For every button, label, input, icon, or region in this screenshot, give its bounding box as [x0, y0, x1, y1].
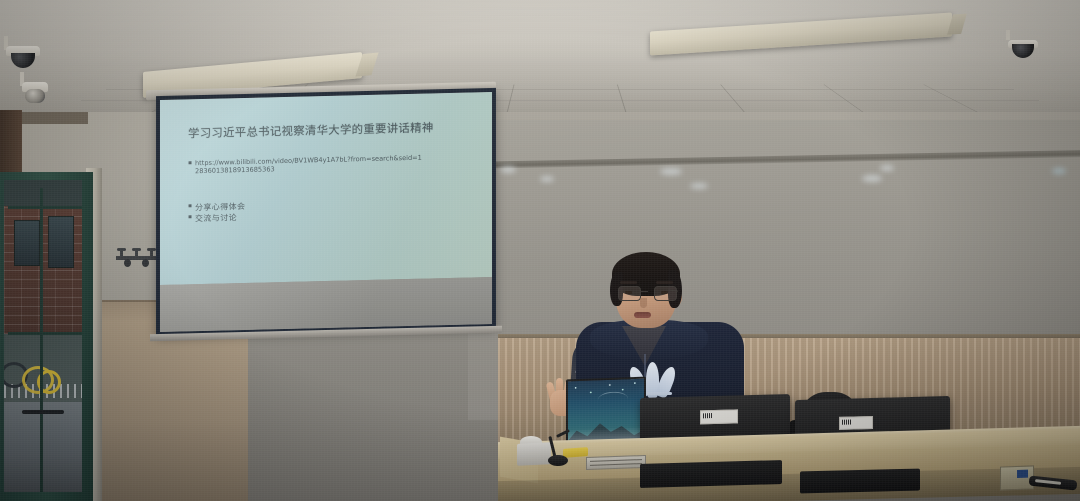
monitor-left-asset-label: [700, 409, 738, 424]
monitor-right-asset-label: [839, 416, 873, 430]
gray-box: [517, 442, 551, 466]
slide-title: 学习习近平总书记视察清华大学的重要讲话精神: [188, 120, 478, 140]
bullet-marker: ▪: [188, 159, 192, 168]
laptop[interactable]: [566, 377, 646, 446]
projection-screen: 学习习近平总书记视察清华大学的重要讲话精神 ▪ https://www.bili…: [156, 88, 496, 336]
glass-door[interactable]: [0, 172, 93, 501]
bullet-marker: ▪: [188, 213, 192, 222]
pavement-outside: [4, 402, 82, 492]
slide-bullets: ▪ https://www.bilibili.com/video/BV1WB4y…: [188, 152, 480, 224]
bicycles-outside: [4, 356, 82, 404]
glasses-icon: [618, 286, 676, 299]
mouse-pad-left: [640, 460, 782, 488]
slide-blank-area: [160, 277, 492, 332]
desk-control-panel[interactable]: [586, 455, 646, 470]
door-handle[interactable]: [22, 410, 64, 414]
door-glass: [4, 180, 82, 492]
gooseneck-microphone[interactable]: [548, 455, 568, 466]
slide-content: 学习习近平总书记视察清华大学的重要讲话精神 ▪ https://www.bili…: [160, 92, 492, 285]
yellow-item: [563, 447, 588, 458]
device-display: [1017, 470, 1028, 478]
mouse-pad-right: [800, 469, 920, 494]
bullet-marker: ▪: [188, 202, 192, 211]
classroom-photo: 学习习近平总书记视察清华大学的重要讲话精神 ▪ https://www.bili…: [0, 0, 1080, 501]
